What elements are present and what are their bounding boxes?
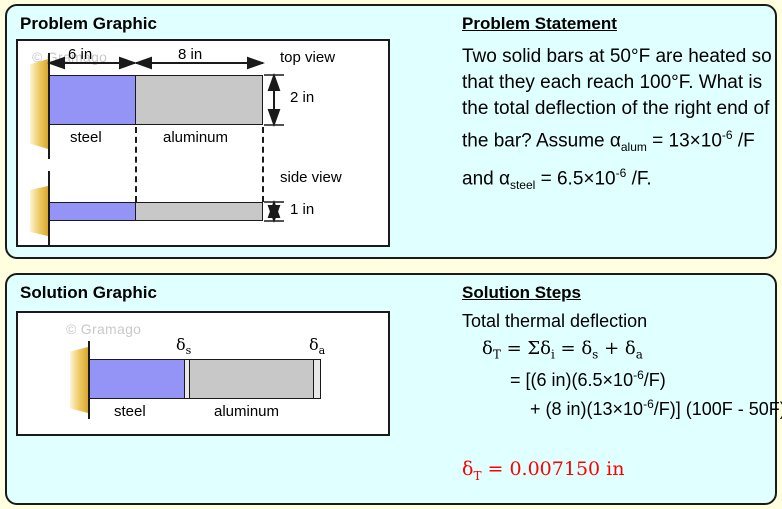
problem-graphic-title: Problem Graphic (20, 14, 157, 34)
projection-line-end (262, 127, 264, 202)
wall-support-solution (70, 347, 88, 413)
statement-line-4-sub: alum (621, 140, 647, 154)
material-label-aluminum-top: aluminum (163, 129, 228, 146)
eq1-a: δ (482, 338, 493, 359)
solution-diagram: © Gramago δs δa steel aluminum (16, 311, 390, 436)
statement-line-5-sup: -6 (616, 166, 627, 180)
dimension-label-8in: 8 in (178, 46, 202, 63)
material-label-steel-solution: steel (114, 403, 146, 420)
eq3-b: /F)] (100F - 50F) (654, 399, 782, 419)
bar-aluminum-solution (189, 359, 314, 399)
eq2-b: /F) (644, 370, 666, 390)
bar-steel-solution (89, 359, 185, 399)
eq1-c: = δ (555, 338, 592, 359)
statement-line-5-b: = 6.5×10 (535, 168, 615, 189)
solution-graphic-title: Solution Graphic (20, 283, 157, 303)
steps-equation-3: + (8 in)(13×10-6/F)] (100F - 50F) (530, 397, 782, 420)
dimension-label-6in: 6 in (68, 46, 92, 63)
eq1-sub4: a (636, 348, 643, 362)
statement-line-3: the total deflection of the right end of (462, 96, 772, 122)
dimension-label-2in: 2 in (290, 89, 314, 106)
delta-alum-sub: a (319, 344, 326, 357)
problem-statement-text: Two solid bars at 50°F are heated so tha… (462, 44, 772, 198)
statement-line-2: that they each reach 100°F. What is (462, 70, 772, 96)
statement-line-5-a: and α (462, 168, 510, 189)
projection-line-junction (135, 127, 137, 202)
delta-aluminum-label: δa (309, 335, 325, 357)
delta-steel-sym: δ (176, 335, 186, 354)
delta-steel-sub: s (186, 344, 192, 357)
statement-line-5: and αsteel = 6.5×10-6 /F. (462, 160, 772, 198)
bar-aluminum-top-view (135, 75, 263, 125)
statement-line-4-b: = 13×10 (647, 130, 722, 151)
solution-panel: Solution Graphic Solution Steps Total th… (5, 273, 777, 505)
view-label-top: top view (280, 49, 335, 66)
bar-aluminum-side-view (135, 202, 263, 221)
material-label-aluminum-solution: aluminum (214, 403, 279, 420)
delta-steel-label: δs (176, 335, 191, 357)
solution-steps-title: Solution Steps (462, 283, 581, 303)
delta-alum-sym: δ (309, 335, 319, 354)
eq2-sup: -6 (633, 368, 644, 382)
dimension-label-1in: 1 in (290, 201, 314, 218)
statement-line-1: Two solid bars at 50°F are heated so (462, 44, 772, 70)
bar-steel-side-view (49, 202, 136, 221)
statement-line-5-sub: steel (510, 178, 535, 192)
steps-intro: Total thermal deflection (462, 311, 718, 332)
statement-line-4-sup: -6 (722, 128, 733, 142)
eq3-sup: -6 (643, 397, 654, 411)
answer-b: = 0.007150 in (481, 458, 624, 480)
material-label-steel-top: steel (70, 129, 102, 146)
wall-support-side (30, 186, 48, 236)
statement-line-5-c: /F. (626, 168, 651, 189)
view-label-side: side view (280, 169, 342, 186)
steps-equation-1: δT = Σδi = δs + δa (482, 338, 738, 362)
statement-line-4: the bar? Assume αalum = 13×10-6 /F (462, 122, 772, 160)
statement-line-4-c: /F (733, 130, 755, 151)
eq1-b: = Σδ (501, 338, 551, 359)
answer-a: δ (462, 458, 473, 480)
problem-diagram: © Gramago (16, 39, 390, 247)
steps-final-answer: δT = 0.007150 in (462, 458, 718, 483)
watermark-gramago-solution: © Gramago (66, 321, 141, 337)
eq3-a: + (8 in)(13×10 (530, 399, 643, 419)
problem-statement-title: Problem Statement (462, 14, 617, 34)
problem-panel: Problem Graphic Problem Statement Two so… (5, 4, 777, 259)
eq2-a: = [(6 in)(6.5×10 (510, 370, 633, 390)
eq1-sub1: T (493, 348, 501, 362)
steps-equation-2: = [(6 in)(6.5×10-6/F) (510, 368, 766, 391)
eq1-d: + δ (598, 338, 635, 359)
statement-line-4-a: the bar? Assume α (462, 130, 621, 151)
deflection-gap-aluminum (313, 359, 321, 399)
solution-steps-text: Total thermal deflection δT = Σδi = δs +… (462, 311, 718, 426)
bar-steel-top-view (49, 75, 136, 125)
